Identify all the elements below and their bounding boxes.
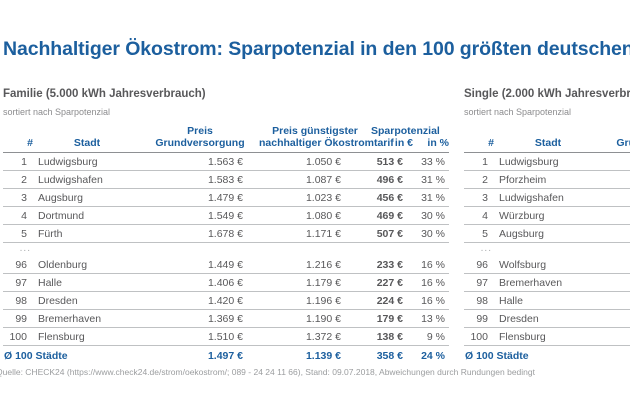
cell-city: Oldenburg [33,256,141,274]
table-average-row: Ø 100 Städte 661 € [464,346,630,365]
col-header-saving-title: Sparpotenzial [371,125,440,137]
table-row: 96 Oldenburg 1.449 € 1.216 € 233 € 16 % [3,256,449,274]
cell-saving-eur: 233 € [371,256,413,274]
cell-rank: 5 [3,225,33,243]
panel-single: Single (2.000 kWh Jahresverbrauch) sorti… [464,88,630,365]
table-row: 2 Ludwigshafen 1.583 € 1.087 € 496 € 31 … [3,171,449,189]
cell-price-basic: 1.510 € [141,328,259,346]
table-row: 99 Bremerhaven 1.369 € 1.190 € 179 € 13 … [3,310,449,328]
cell-rank: 5 [464,225,494,243]
col-header-price-green: Preis günstigster nachhaltiger Ökostromt… [259,126,371,153]
cell-price-green: 1.372 € [259,328,371,346]
cell-saving-pct: 16 % [413,274,449,292]
table-ellipsis-row: ... [3,243,449,257]
cell-city: Halle [494,292,602,310]
ellipsis-label: ... [3,243,33,257]
cell-saving-eur: 469 € [371,207,413,225]
cell-saving-eur: 507 € [371,225,413,243]
cell-rank: 96 [464,256,494,274]
cell-saving-pct: 9 % [413,328,449,346]
cell-price-basic: 1.563 € [141,153,259,171]
cell-city: Flensburg [33,328,141,346]
cell-saving-eur: 138 € [371,328,413,346]
table-row: 97 Halle 1.406 € 1.179 € 227 € 16 % [3,274,449,292]
table-row: 97 Bremerhaven 603 € [464,274,630,292]
table-familie: # Stadt Preis Grundversorgung Preis güns… [3,126,449,365]
cell-city: Dortmund [33,207,141,225]
cell-rank: 1 [3,153,33,171]
cell-price-basic: 1.420 € [141,292,259,310]
cell-city: Augsburg [494,225,602,243]
cell-rank: 96 [3,256,33,274]
cell-saving-pct: 31 % [413,189,449,207]
average-price-basic: 661 € [602,346,630,365]
panel-familie: Familie (5.000 kWh Jahresverbrauch) sort… [3,88,449,365]
cell-saving-pct: 33 % [413,153,449,171]
table-row: 99 Dresden 619 € [464,310,630,328]
average-label: Ø 100 Städte [464,346,602,365]
cell-saving-eur: 179 € [371,310,413,328]
cell-price-green: 1.050 € [259,153,371,171]
cell-price-basic: 1.369 € [141,310,259,328]
table-row: 1 Ludwigsburg 701 € [464,153,630,171]
cell-city: Dresden [494,310,602,328]
cell-price-green: 1.087 € [259,171,371,189]
cell-saving-pct: 16 % [413,292,449,310]
table-row: 100 Flensburg 658 € [464,328,630,346]
col-header-price-green-line1: Preis günstigster [272,125,358,137]
cell-rank: 98 [3,292,33,310]
col-header-rank: # [464,126,494,153]
cell-city: Ludwigshafen [494,189,602,207]
col-header-saving-eur-unit: in € [395,137,413,149]
col-header-price-basic-line2: Grundversorgung [616,137,630,149]
average-saving-eur: 358 € [371,346,413,365]
cell-saving-eur: 456 € [371,189,413,207]
cell-rank: 100 [464,328,494,346]
col-header-city: Stadt [33,126,141,153]
cell-city: Ludwigsburg [494,153,602,171]
col-header-saving-spacer [446,125,449,137]
cell-saving-pct: 13 % [413,310,449,328]
cell-saving-eur: 496 € [371,171,413,189]
cell-city: Halle [33,274,141,292]
cell-saving-pct: 31 % [413,171,449,189]
cell-price-basic: 691 € [602,207,630,225]
cell-city: Ludwigsburg [33,153,141,171]
cell-rank: 2 [3,171,33,189]
cell-price-basic: 690 € [602,171,630,189]
cell-price-green: 1.216 € [259,256,371,274]
cell-rank: 3 [464,189,494,207]
cell-rank: 1 [464,153,494,171]
cell-price-basic: 1.479 € [141,189,259,207]
cell-saving-eur: 224 € [371,292,413,310]
cell-rank: 97 [464,274,494,292]
panel-subtitle-single: sortiert nach Sparpotenzial [464,107,630,117]
cell-city: Augsburg [33,189,141,207]
col-header-price-basic: Preis Grundversorgung [141,126,259,153]
panel-title-single: Single (2.000 kWh Jahresverbrauch) [464,88,630,100]
col-header-price-basic-line1: Preis [187,125,213,137]
cell-city: Pforzheim [494,171,602,189]
table-row: 1 Ludwigsburg 1.563 € 1.050 € 513 € 33 % [3,153,449,171]
cell-price-green: 1.179 € [259,274,371,292]
cell-price-basic: 619 € [602,310,630,328]
cell-price-basic: 1.549 € [141,207,259,225]
col-header-saving-pct-unit: in % [427,137,449,149]
cell-city: Flensburg [494,328,602,346]
table-single: # Stadt Preis Grundversorgung Preis güns… [464,126,630,365]
col-header-city: Stadt [494,126,602,153]
cell-city: Dresden [33,292,141,310]
table-row: 3 Augsburg 1.479 € 1.023 € 456 € 31 % [3,189,449,207]
cell-price-basic: 1.678 € [141,225,259,243]
average-price-green: 1.139 € [259,346,371,365]
cell-city: Wolfsburg [494,256,602,274]
table-row: 100 Flensburg 1.510 € 1.372 € 138 € 9 % [3,328,449,346]
cell-price-basic: 611 € [602,292,630,310]
cell-price-green: 1.190 € [259,310,371,328]
cell-saving-pct: 30 % [413,225,449,243]
cell-price-basic: 1.449 € [141,256,259,274]
average-price-basic: 1.497 € [141,346,259,365]
table-row: 5 Fürth 1.678 € 1.171 € 507 € 30 % [3,225,449,243]
col-header-price-basic: Preis Grundversorgung [602,126,630,153]
table-row: 96 Wolfsburg 636 € [464,256,630,274]
cell-price-green: 1.080 € [259,207,371,225]
cell-city: Fürth [33,225,141,243]
col-header-price-basic-line2: Grundversorgung [155,137,244,149]
average-label: Ø 100 Städte [3,346,141,365]
cell-rank: 4 [3,207,33,225]
cell-city: Bremerhaven [494,274,602,292]
page-title: Nachhaltiger Ökostrom: Sparpotenzial in … [3,38,630,61]
cell-price-basic: 636 € [602,256,630,274]
cell-price-basic: 658 € [602,328,630,346]
cell-saving-eur: 227 € [371,274,413,292]
cell-city: Würzburg [494,207,602,225]
cell-price-basic: 701 € [602,153,630,171]
table-row: 98 Halle 611 € [464,292,630,310]
cell-saving-pct: 30 % [413,207,449,225]
cell-rank: 99 [464,310,494,328]
table-row: 4 Dortmund 1.549 € 1.080 € 469 € 30 % [3,207,449,225]
table-row: 5 Augsburg 683 € [464,225,630,243]
source-footnote: Quelle: CHECK24 (https://www.check24.de/… [0,367,630,377]
average-saving-pct: 24 % [413,346,449,365]
cell-rank: 99 [3,310,33,328]
cell-city: Bremerhaven [33,310,141,328]
cell-price-basic: 713 € [602,189,630,207]
col-header-rank: # [3,126,33,153]
cell-rank: 100 [3,328,33,346]
cell-rank: 97 [3,274,33,292]
table-average-row: Ø 100 Städte 1.497 € 1.139 € 358 € 24 % [3,346,449,365]
table-row: 98 Dresden 1.420 € 1.196 € 224 € 16 % [3,292,449,310]
cell-price-basic: 1.583 € [141,171,259,189]
cell-saving-eur: 513 € [371,153,413,171]
col-header-price-green-line2: nachhaltiger Ökostromtarif [259,137,394,149]
panel-subtitle-familie: sortiert nach Sparpotenzial [3,107,449,117]
cell-rank: 98 [464,292,494,310]
cell-price-basic: 683 € [602,225,630,243]
cell-price-green: 1.171 € [259,225,371,243]
cell-city: Ludwigshafen [33,171,141,189]
cell-rank: 3 [3,189,33,207]
cell-saving-pct: 16 % [413,256,449,274]
cell-price-green: 1.196 € [259,292,371,310]
table-row: 4 Würzburg 691 € [464,207,630,225]
panel-title-familie: Familie (5.000 kWh Jahresverbrauch) [3,88,449,100]
table-row: 2 Pforzheim 690 € [464,171,630,189]
table-ellipsis-row: ... [464,243,630,257]
cell-price-basic: 1.406 € [141,274,259,292]
ellipsis-label: ... [464,243,494,257]
cell-rank: 2 [464,171,494,189]
table-row: 3 Ludwigshafen 713 € [464,189,630,207]
cell-rank: 4 [464,207,494,225]
cell-price-green: 1.023 € [259,189,371,207]
cell-price-basic: 603 € [602,274,630,292]
